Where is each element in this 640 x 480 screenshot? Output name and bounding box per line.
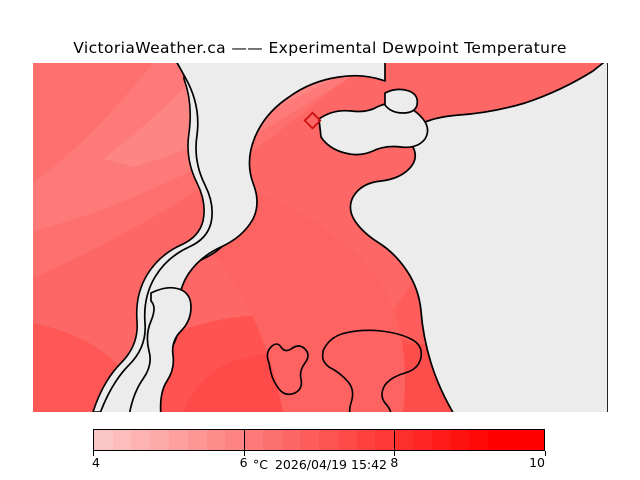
colorbar-segment bbox=[525, 430, 545, 450]
colorbar-segment bbox=[169, 430, 189, 450]
weather-map-page: VictoriaWeather.ca —— Experimental Dewpo… bbox=[0, 0, 640, 480]
colorbar-segment bbox=[188, 430, 208, 450]
colorbar-segment bbox=[450, 430, 470, 450]
colorbar-segment bbox=[338, 430, 358, 450]
colorbar-caption: °C2026/04/19 15:42 bbox=[0, 457, 640, 472]
colorbar-segment bbox=[432, 430, 452, 450]
colorbar-tick-line bbox=[244, 429, 245, 451]
colorbar-segment bbox=[94, 430, 114, 450]
colorbar-segment bbox=[263, 430, 283, 450]
colorbar-segment bbox=[488, 430, 508, 450]
colorbar-segment bbox=[113, 430, 133, 450]
colorbar-segment bbox=[225, 430, 245, 450]
colorbar-timestamp: 2026/04/19 15:42 bbox=[275, 457, 387, 472]
colorbar-segment bbox=[150, 430, 170, 450]
page-title: VictoriaWeather.ca —— Experimental Dewpo… bbox=[0, 39, 640, 57]
colorbar-units: °C bbox=[253, 457, 268, 472]
colorbar-tick-line bbox=[394, 429, 395, 451]
colorbar-segment bbox=[413, 430, 433, 450]
colorbar-segment bbox=[282, 430, 302, 450]
colorbar-segment bbox=[244, 430, 264, 450]
colorbar-segment bbox=[469, 430, 489, 450]
colorbar-segment bbox=[394, 430, 414, 450]
map-canvas[interactable] bbox=[33, 63, 608, 412]
map-svg bbox=[33, 63, 608, 412]
colorbar: 46810 bbox=[93, 429, 545, 451]
colorbar-segment bbox=[507, 430, 527, 450]
colorbar-segment bbox=[207, 430, 227, 450]
colorbar-segment bbox=[319, 430, 339, 450]
colorbar-segment bbox=[375, 430, 395, 450]
land-sliver-ne bbox=[385, 89, 417, 113]
colorbar-segment bbox=[131, 430, 151, 450]
colorbar-segment bbox=[300, 430, 320, 450]
colorbar-gradient bbox=[93, 429, 545, 451]
colorbar-tick-mark bbox=[545, 451, 546, 456]
colorbar-segment bbox=[357, 430, 377, 450]
